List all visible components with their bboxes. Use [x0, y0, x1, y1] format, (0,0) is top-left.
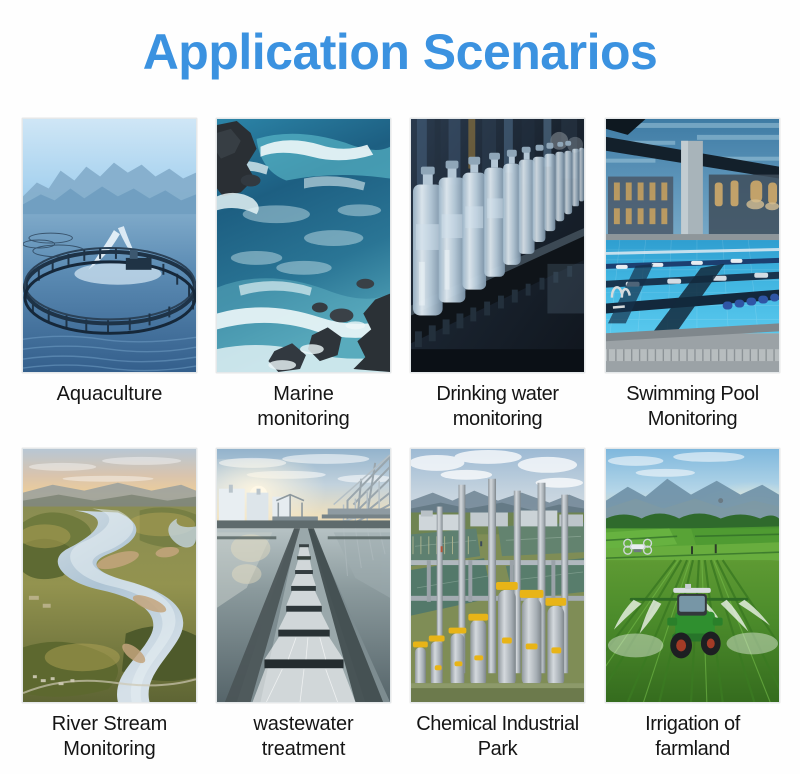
scenario-card-wastewater-treatment[interactable]: wastewater treatment — [216, 448, 391, 762]
scenario-card-river-stream-monitoring[interactable]: River Stream Monitoring — [22, 448, 197, 762]
scenario-label: River Stream Monitoring — [22, 712, 197, 762]
scenario-label: Swimming Pool Monitoring — [605, 382, 780, 432]
chemical-industrial-park-photo — [410, 448, 585, 703]
application-scenarios-page: Application Scenarios — [0, 0, 800, 774]
scenario-card-irrigation-of-farmland[interactable]: Irrigation of farmland — [605, 448, 780, 762]
scenario-label: Marine monitoring — [216, 382, 391, 432]
scenario-card-drinking-water-monitoring[interactable]: Drinking water monitoring — [410, 118, 585, 432]
scenario-card-marine-monitoring[interactable]: Marine monitoring — [216, 118, 391, 432]
scenario-card-swimming-pool-monitoring[interactable]: Swimming Pool Monitoring — [605, 118, 780, 432]
scenario-label: wastewater treatment — [216, 712, 391, 762]
scenario-card-chemical-industrial-park[interactable]: Chemical Industrial Park — [410, 448, 585, 762]
scenario-label: Aquaculture — [22, 382, 197, 407]
swimming-pool-photo — [605, 118, 780, 373]
scenario-label: Irrigation of farmland — [605, 712, 780, 762]
irrigation-farmland-photo — [605, 448, 780, 703]
scenario-label: Chemical Industrial Park — [410, 712, 585, 762]
river-stream-photo — [22, 448, 197, 703]
page-title: Application Scenarios — [0, 22, 800, 82]
aquaculture-photo — [22, 118, 197, 373]
scenario-label: Drinking water monitoring — [410, 382, 585, 432]
wastewater-treatment-photo — [216, 448, 391, 703]
drinking-water-photo — [410, 118, 585, 373]
scenario-card-aquaculture[interactable]: Aquaculture — [22, 118, 197, 407]
marine-monitoring-photo — [216, 118, 391, 373]
